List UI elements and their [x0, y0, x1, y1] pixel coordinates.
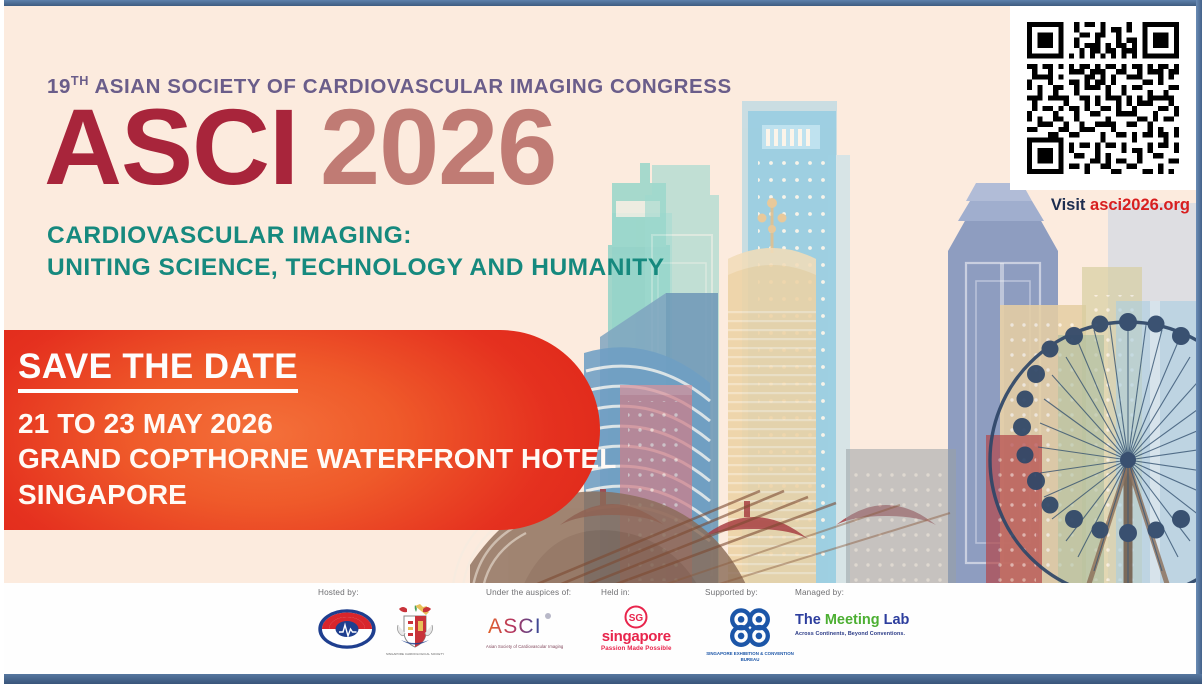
- tagline-line-1: CARDIOVASCULAR IMAGING:: [47, 220, 665, 252]
- crest-caption: SINGAPORE CARDIOLOGICAL SOCIETY: [386, 652, 444, 656]
- supported-by-caption: Supported by:: [705, 588, 758, 597]
- frame-bottom-border: [0, 674, 1202, 684]
- singapore-tagline: Passion Made Possible: [601, 645, 672, 652]
- page-title: ASCI2026: [44, 93, 556, 201]
- asci-2026-save-the-date-poster: 19TH ASIAN SOCIETY OF CARDIOVASCULAR IMA…: [0, 0, 1202, 684]
- sponsor-footer: Hosted by:: [0, 583, 1202, 674]
- hosted-by-caption: Hosted by:: [318, 588, 359, 597]
- save-the-date-details: 21 TO 23 MAY 2026 GRAND COPTHORNE WATERF…: [18, 406, 600, 513]
- footer-group-hosted-by: Hosted by:: [318, 588, 486, 656]
- frame-left-border: [0, 0, 4, 684]
- tml-word-meeting: Meeting: [825, 612, 880, 628]
- tml-word-lab: Lab: [880, 612, 910, 628]
- tml-word-the: The: [795, 612, 825, 628]
- tagline-line-2: UNITING SCIENCE, TECHNOLOGY AND HUMANITY: [47, 252, 665, 284]
- frame-right-border: [1196, 0, 1202, 684]
- singapore-cardiac-society-logo: [318, 608, 376, 650]
- held-in-caption: Held in:: [601, 588, 630, 597]
- singapore-wordmark: singapore: [602, 629, 671, 644]
- svg-text:SG: SG: [629, 613, 644, 624]
- qr-code-icon[interactable]: [1027, 22, 1179, 174]
- academy-of-medicine-crest-logo: [395, 601, 435, 651]
- event-city: SINGAPORE: [18, 477, 600, 513]
- singapore-exhibition-convention-bureau-logo: [722, 605, 778, 649]
- managed-by-caption: Managed by:: [795, 588, 844, 597]
- visit-website-line[interactable]: Visit asci2026.org: [1051, 196, 1190, 215]
- frame-top-border: [0, 0, 1202, 6]
- asci-logo: ASCI: [486, 607, 560, 643]
- sg-badge-icon: SG: [624, 605, 648, 629]
- website-url[interactable]: asci2026.org: [1090, 196, 1190, 214]
- title-acronym: ASCI: [44, 86, 298, 207]
- title-year: 2026: [320, 86, 556, 207]
- visit-label: Visit: [1051, 196, 1086, 214]
- footer-group-held-in: Held in: SG singapore Passion Made Possi…: [601, 588, 705, 652]
- footer-group-supported-by: Supported by:: [705, 588, 795, 662]
- the-meeting-lab-logo: The Meeting Lab Across Continents, Beyon…: [795, 613, 903, 643]
- svg-text:ASCI: ASCI: [488, 615, 542, 638]
- footer-group-auspices: Under the auspices of:: [486, 588, 601, 649]
- save-the-date-heading: SAVE THE DATE: [18, 348, 298, 393]
- qr-code-panel[interactable]: [1010, 5, 1196, 190]
- event-dates: 21 TO 23 MAY 2026: [18, 406, 600, 442]
- secb-caption: SINGAPORE EXHIBITION & CONVENTION BUREAU: [705, 651, 795, 662]
- event-venue: GRAND COPTHORNE WATERFRONT HOTEL: [18, 441, 600, 477]
- auspices-caption: Under the auspices of:: [486, 588, 571, 597]
- footer-group-managed-by: Managed by: The Meeting Lab Across Conti…: [795, 588, 925, 643]
- asci-logo-tagline: Asian Society of Cardiovascular Imaging: [486, 644, 563, 649]
- congress-theme-tagline: CARDIOVASCULAR IMAGING: UNITING SCIENCE,…: [47, 220, 665, 284]
- save-the-date-banner: SAVE THE DATE 21 TO 23 MAY 2026 GRAND CO…: [0, 330, 600, 530]
- tml-tagline: Across Continents, Beyond Conventions.: [795, 631, 903, 637]
